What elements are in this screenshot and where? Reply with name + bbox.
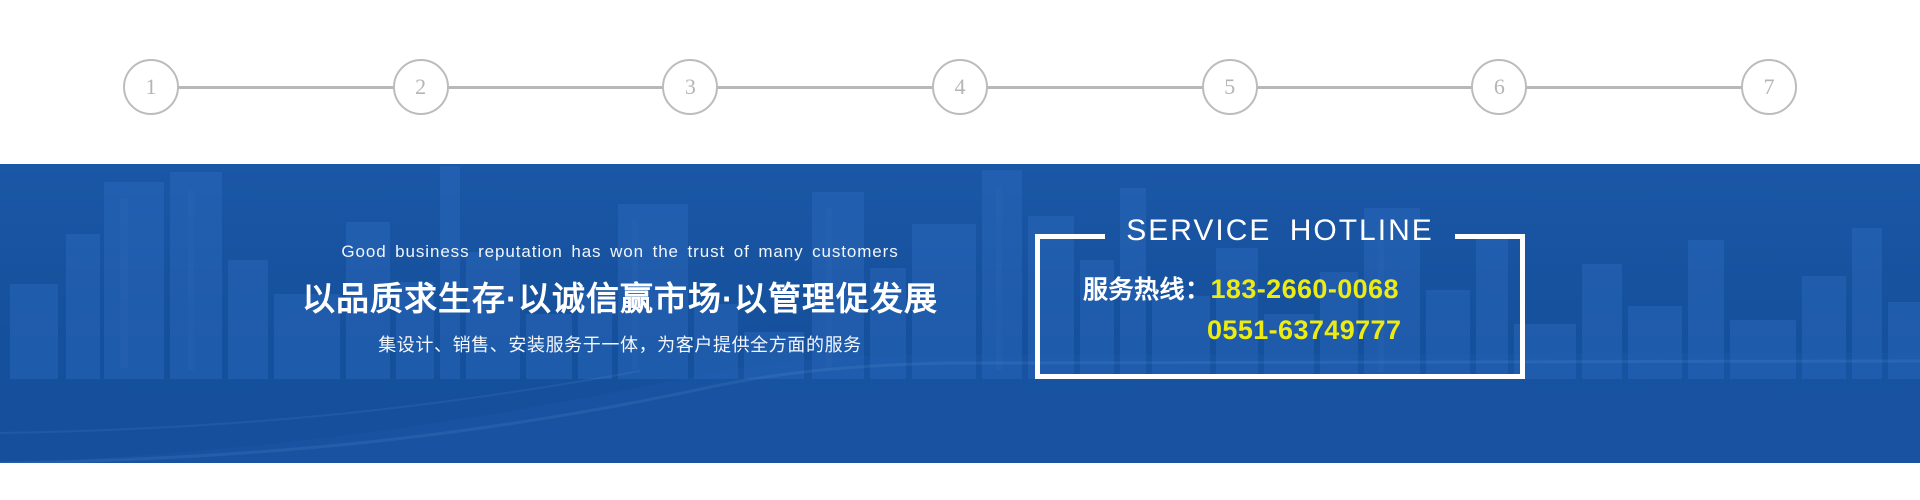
hotline-phone-secondary[interactable]: 0551-63749777 [1207,315,1401,346]
step-connector-4-5 [987,86,1203,89]
hotline-row-secondary: 0551-63749777 [1083,315,1525,346]
slogan-english: Good business reputation has won the tru… [300,242,940,262]
step-label-5: 5 [1224,76,1235,98]
service-hotline-box: SERVICE HOTLINE 服务热线： 183-2660-0068 0551… [1035,234,1525,379]
hotline-numbers: 服务热线： 183-2660-0068 0551-63749777 [1035,274,1525,346]
step-node-3[interactable]: 3 [662,59,718,115]
hotline-top-border [1035,234,1525,239]
step-label-7: 7 [1764,76,1775,98]
page-root: 1 2 3 4 5 6 7 [0,0,1920,500]
step-connector-3-4 [717,86,933,89]
hotline-top-border-right [1455,234,1525,239]
slogan-chinese-subtitle: 集设计、销售、安装服务于一体，为客户提供全方面的服务 [300,334,940,357]
hotline-top-border-left [1035,234,1105,239]
step-node-4[interactable]: 4 [932,59,988,115]
step-label-2: 2 [415,76,426,98]
step-connector-6-7 [1526,86,1742,89]
step-node-5[interactable]: 5 [1202,59,1258,115]
road-graphic [0,313,1920,463]
hotline-label: 服务热线： [1083,276,1211,305]
step-node-6[interactable]: 6 [1471,59,1527,115]
slogan-chinese-headline: 以品质求生存·以诚信赢市场·以管理促发展 [300,278,940,319]
step-connector-1-2 [178,86,394,89]
step-label-6: 6 [1494,76,1505,98]
step-node-2[interactable]: 2 [393,59,449,115]
step-node-7[interactable]: 7 [1741,59,1797,115]
step-connector-2-3 [448,86,664,89]
step-label-1: 1 [146,76,157,98]
step-connector-5-6 [1257,86,1473,89]
bottom-white-strip [0,463,1920,500]
step-label-4: 4 [955,76,966,98]
hotline-phone-primary[interactable]: 183-2660-0068 [1211,274,1399,305]
step-node-1[interactable]: 1 [123,59,179,115]
step-progress-bar: 1 2 3 4 5 6 7 [0,0,1920,164]
slogan-block: Good business reputation has won the tru… [300,242,940,357]
hotline-row-primary: 服务热线： 183-2660-0068 [1083,274,1525,305]
step-label-3: 3 [685,76,696,98]
promo-banner: Good business reputation has won the tru… [0,164,1920,463]
